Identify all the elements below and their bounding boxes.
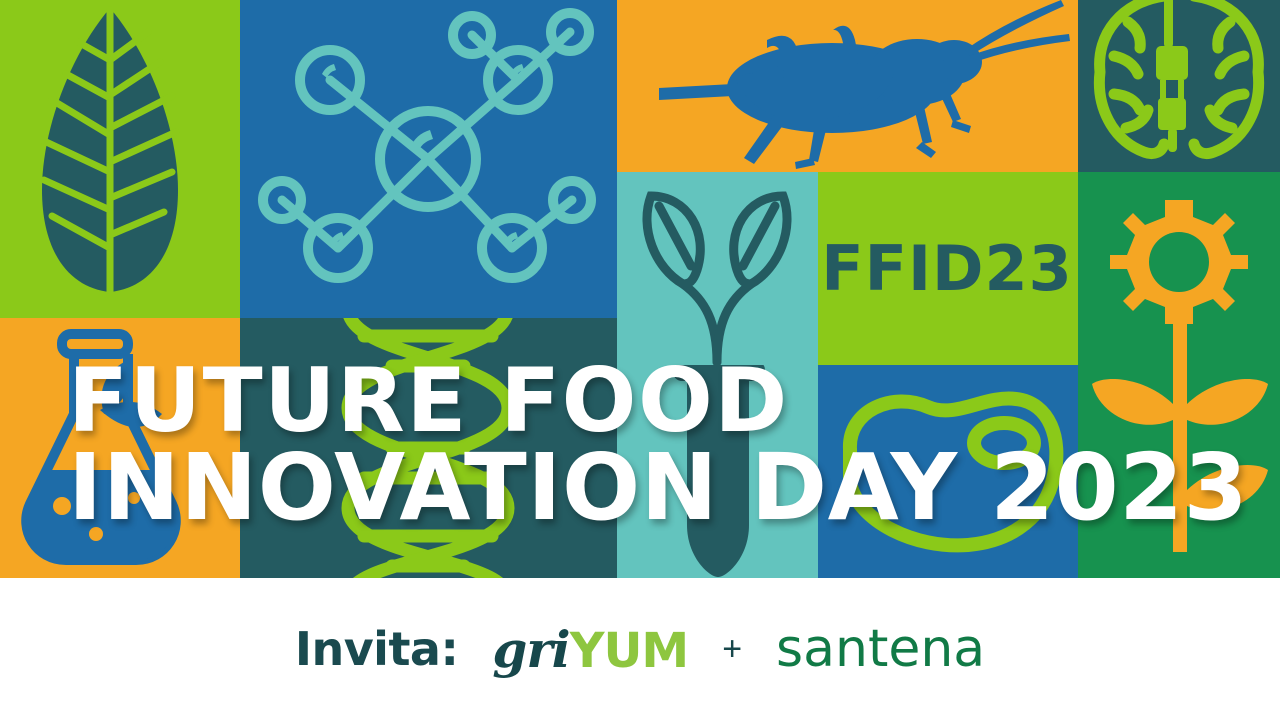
invita-label: Invita: [295,622,459,676]
leaf-icon [0,0,240,318]
page-title: FUTURE FOOD INNOVATION DAY 2023 [0,358,1280,533]
headline-line-1: FUTURE FOOD [68,358,1280,443]
sprout-tube-tile [617,172,818,365]
poster-root: FFID23 FUTURE FOOD INNOVATION DAY 2023 I… [0,0,1280,720]
test-tube-sprout-icon [617,172,818,365]
molecule-tile [240,0,617,318]
cricket-tile [617,0,1078,172]
headline-line-2: INNOVATION DAY 2023 [68,443,1280,532]
griyum-logo-gri: gri [492,620,569,679]
cricket-icon [617,0,1078,172]
molecule-icon [240,0,617,318]
santena-logo: santena [776,619,985,679]
plus-separator: + [722,630,742,669]
leaf-tile [0,0,240,318]
griyum-logo-yum: YUM [570,623,689,679]
brain-tile [1078,0,1280,172]
griyum-logo: griYUM [492,620,688,679]
sponsor-footer: Invita: griYUM + santena [0,578,1280,720]
ffid-badge-label: FFID23 [818,172,1076,365]
brain-plug-icon [1078,0,1280,172]
